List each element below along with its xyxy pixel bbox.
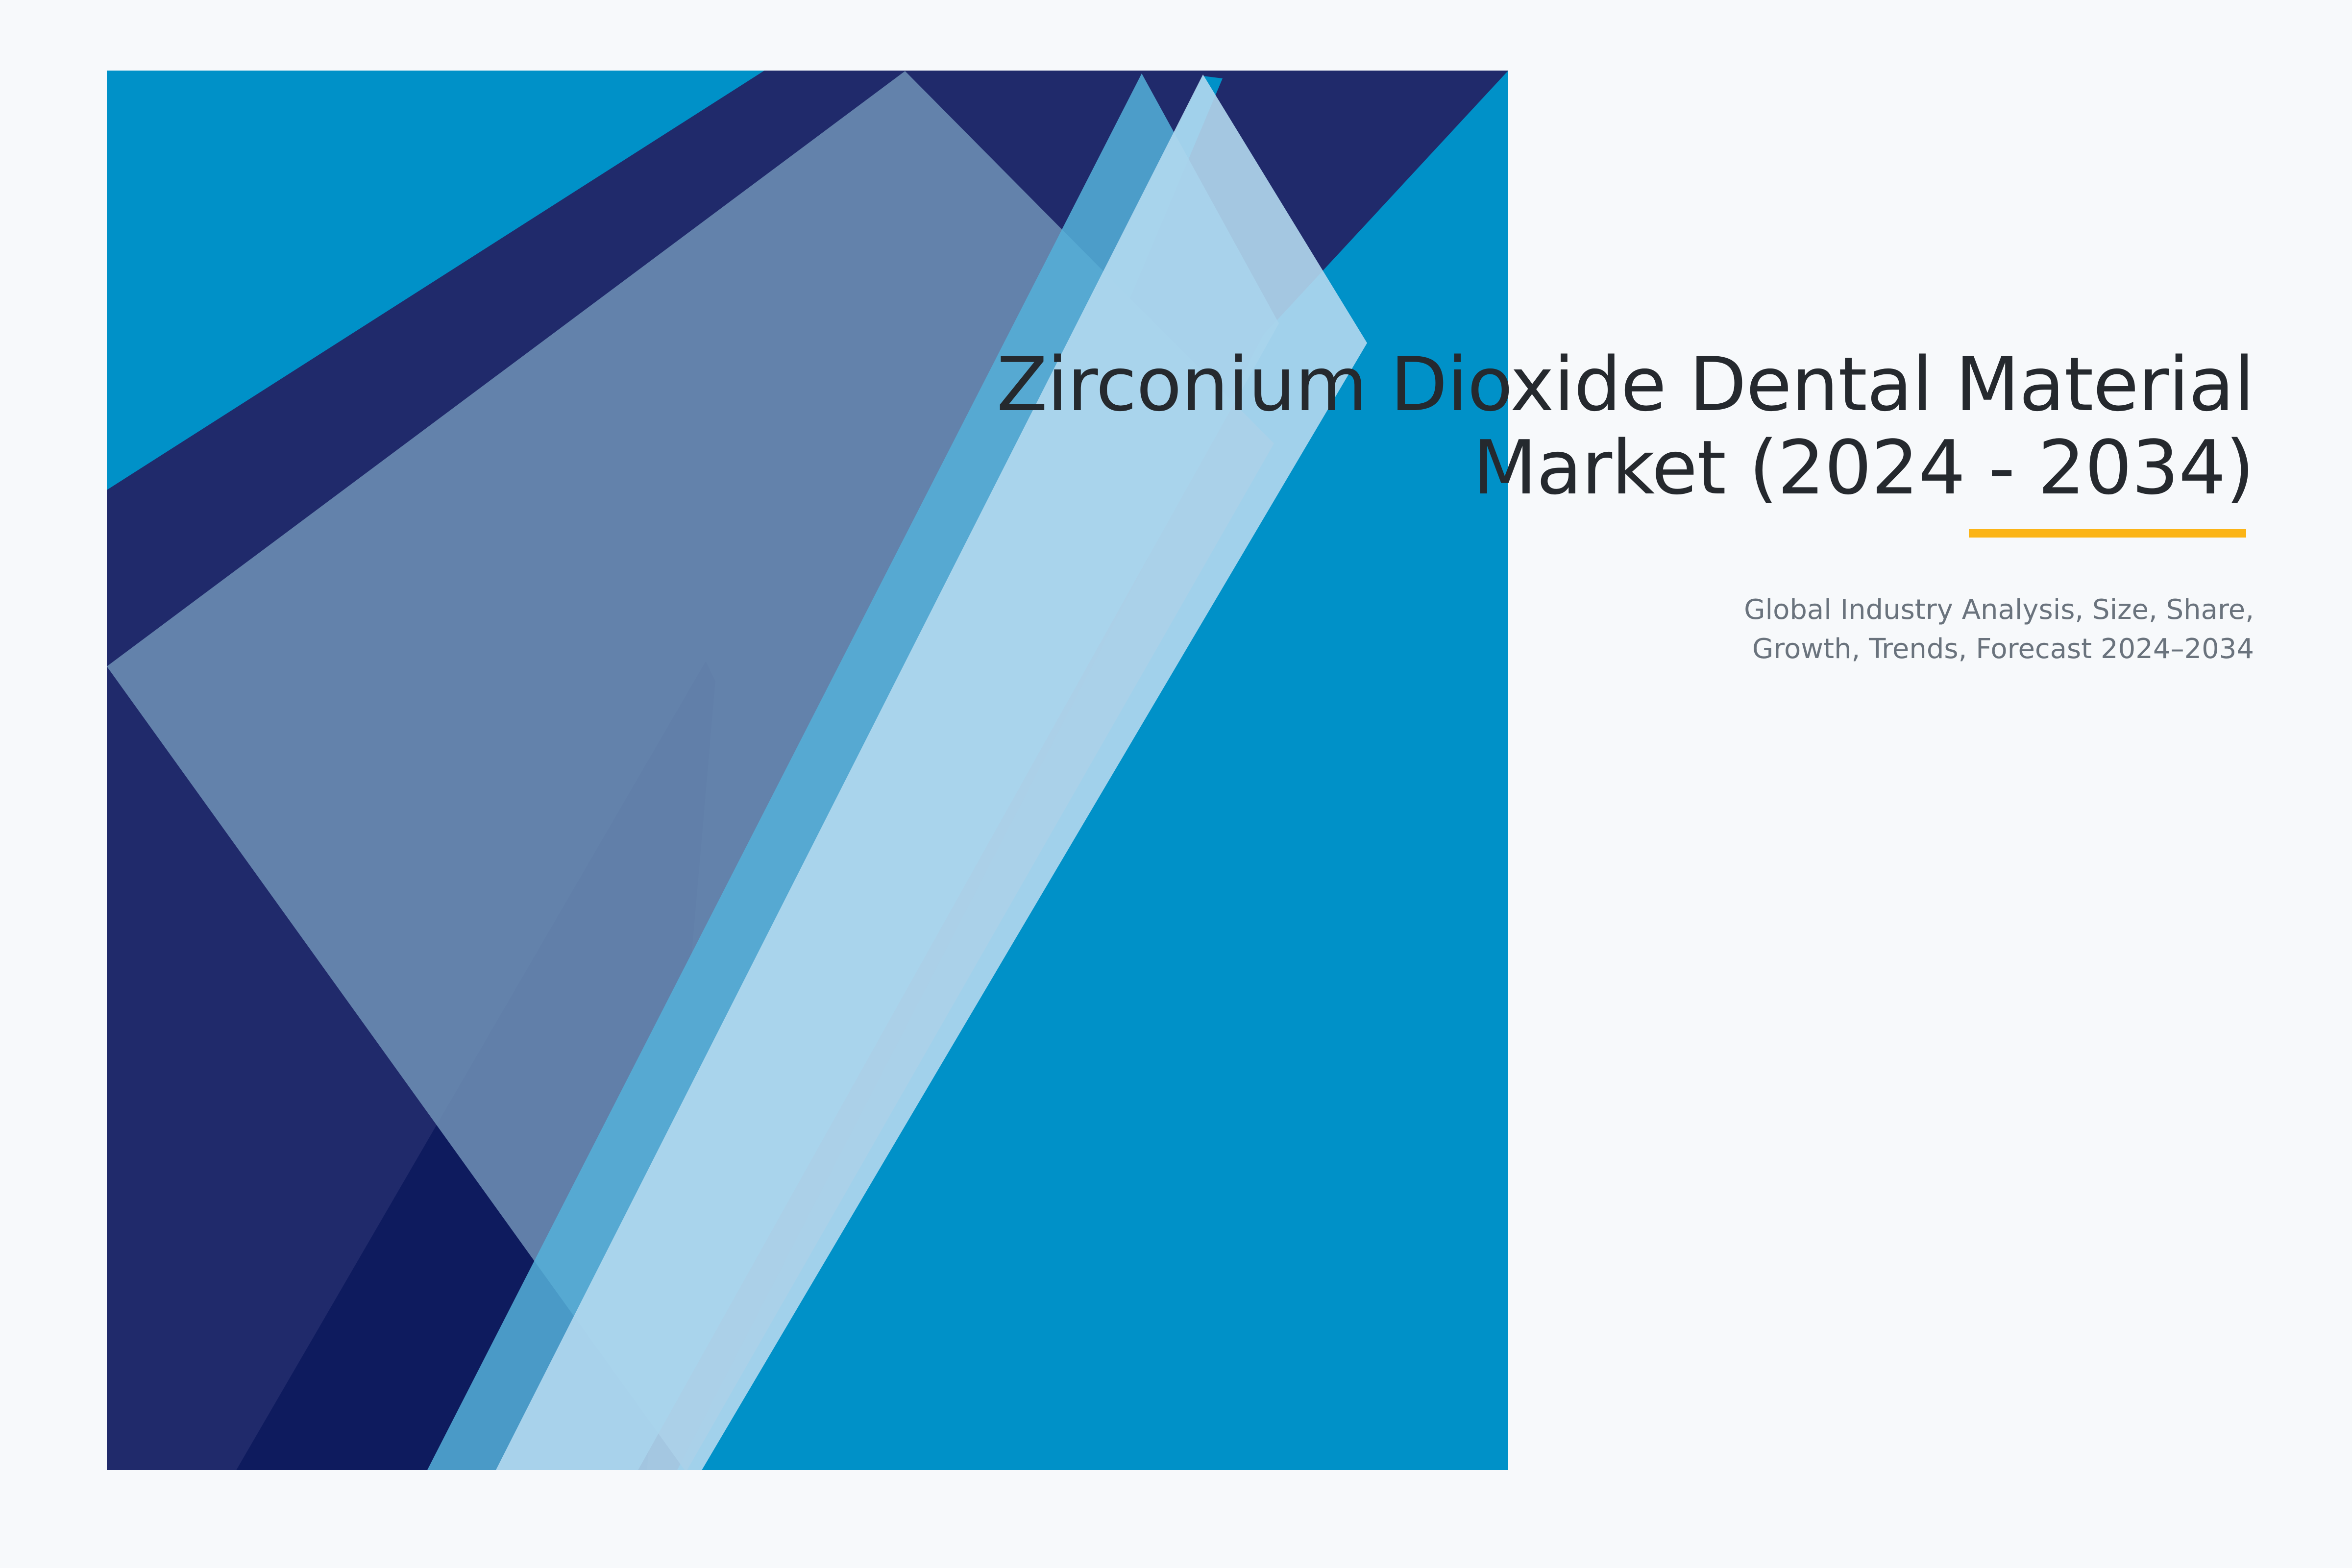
shape-pale-blue-diagonal-band <box>495 74 1367 1472</box>
shape-cyan-backdrop <box>107 71 1508 1472</box>
page-title: Zirconium Dioxide Dental Material Market… <box>833 343 2254 510</box>
shape-sky-blue-diagonal-band <box>426 73 1279 1472</box>
title-highlight-underline <box>1969 529 2246 538</box>
abstract-geometric-cover-graphic <box>0 0 2352 1568</box>
cover-artwork-svg <box>0 0 2352 1568</box>
shape-navy-left-column <box>107 71 1508 1472</box>
cover-text-column: Zirconium Dioxide Dental Material Market… <box>833 343 2254 669</box>
report-cover: Zirconium Dioxide Dental Material Market… <box>0 0 2352 1568</box>
shape-deep-navy-spike <box>235 661 715 1472</box>
page-subtitle: Global Industry Analysis, Size, Share, G… <box>833 590 2254 668</box>
shape-slate-blue-sheet <box>107 71 1274 1472</box>
shape-navy-top-right-wedge <box>107 71 1508 1472</box>
